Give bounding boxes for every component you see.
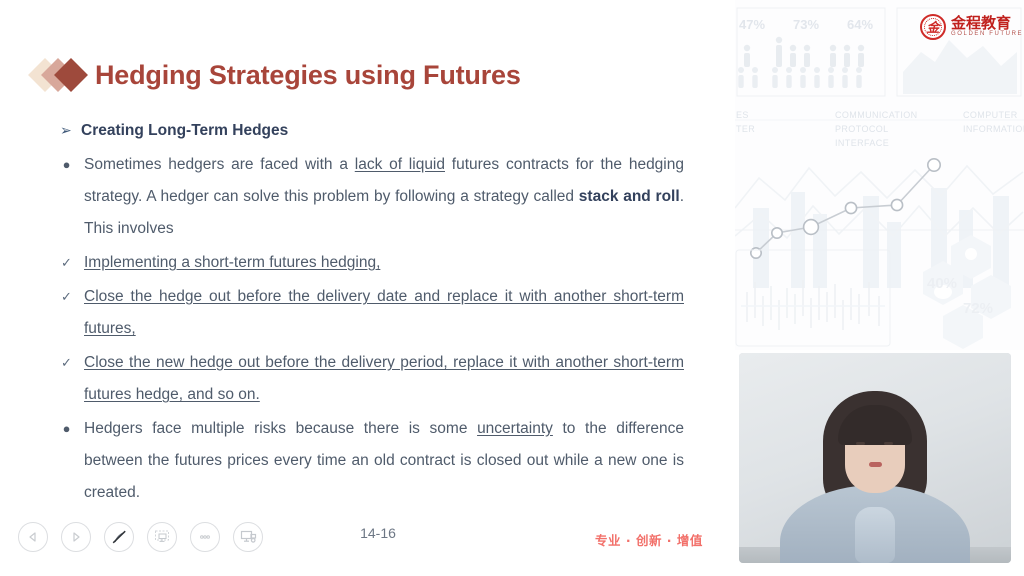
bullet-text-run: lack of liquid (355, 156, 445, 173)
bullet-text-run: Close the hedge out before the delivery … (84, 288, 684, 337)
section-heading: ➢ Creating Long-Term Hedges (60, 120, 705, 141)
seal-glyph: 金 (926, 21, 939, 34)
graphic-word-0: ES (736, 110, 749, 120)
bullet-text: Hedgers face multiple risks because ther… (84, 413, 684, 509)
section-heading-label: Creating Long-Term Hedges (81, 120, 288, 141)
bullet-item: ✓Close the hedge out before the delivery… (60, 281, 705, 345)
bullet-item: ✓Implementing a short-term futures hedgi… (60, 247, 705, 279)
next-slide-button[interactable] (61, 522, 91, 552)
slide-title-row: Hedging Strategies using Futures (33, 58, 521, 92)
bullet-text-run: uncertainty (477, 420, 553, 437)
more-options-button[interactable] (190, 522, 220, 552)
presentation-slide: 47% 73% 64% ES TER COMMUNICATION PROTOCO… (0, 0, 1024, 576)
presenter-mouth (869, 462, 882, 467)
graphic-word-4: INTERFACE (835, 138, 889, 148)
presenter-collar (855, 507, 895, 563)
graphic-word-2: COMMUNICATION (835, 110, 918, 120)
bullet-text-run: Sometimes hedgers are faced with a (84, 156, 355, 173)
brand-tagline: 专业 · 创新 · 增值 (595, 530, 703, 549)
bullet-item: ●Sometimes hedgers are faced with a lack… (60, 149, 705, 245)
decorative-infographic-panel: 47% 73% 64% ES TER COMMUNICATION PROTOCO… (735, 0, 1024, 350)
graphic-word-5: COMPUTER (963, 110, 1018, 120)
graphic-word-6: INFORMATION (963, 124, 1024, 134)
logo-name-en: GOLDEN FUTURE (951, 31, 1023, 38)
previous-slide-button[interactable] (18, 522, 48, 552)
bullet-text: Implementing a short-term futures hedgin… (84, 247, 684, 279)
graphic-word-3: PROTOCOL (835, 124, 889, 134)
bullet-text-run: Close the new hedge out before the deliv… (84, 354, 684, 403)
check-bullet-icon: ✓ (60, 247, 73, 279)
presenter-eye-right (884, 442, 893, 445)
presenter-video-feed[interactable] (739, 353, 1011, 563)
bullet-text: Sometimes hedgers are faced with a lack … (84, 149, 684, 245)
logo-name-cn: 金程教育 (951, 16, 1023, 32)
bullet-text-run: Implementing a short-term futures hedgin… (84, 254, 380, 271)
presenter-eye-left (856, 442, 865, 445)
seal-icon: 金 (920, 14, 946, 40)
graphic-percent-1: 73% (793, 17, 819, 32)
pen-tool-button[interactable] (104, 522, 134, 552)
slide-navigator-button[interactable] (147, 522, 177, 552)
bullet-item: ●Hedgers face multiple risks because the… (60, 413, 705, 509)
arrow-bullet-icon: ➢ (60, 120, 72, 141)
bullet-text: Close the new hedge out before the deliv… (84, 347, 684, 411)
bullet-item: ✓Close the new hedge out before the deli… (60, 347, 705, 411)
graphic-word-1: TER (736, 124, 755, 134)
graphic-percent-0: 47% (739, 17, 765, 32)
slide-body: ➢ Creating Long-Term Hedges ●Sometimes h… (60, 120, 705, 511)
check-bullet-icon: ✓ (60, 347, 73, 379)
page-indicator: 14-16 (352, 525, 404, 541)
graphic-hex-percent-0: 40% (927, 275, 957, 292)
bullet-text: Close the hedge out before the delivery … (84, 281, 684, 345)
graphic-percent-2: 64% (847, 17, 873, 32)
bullet-list: ●Sometimes hedgers are faced with a lack… (60, 149, 705, 509)
infographic-vector-art (735, 0, 1024, 350)
brand-logo: 金 金程教育 GOLDEN FUTURE (920, 14, 1023, 40)
bullet-text-run: Hedgers face multiple risks because ther… (84, 420, 477, 437)
logo-text: 金程教育 GOLDEN FUTURE (951, 16, 1023, 39)
page-title: Hedging Strategies using Futures (95, 60, 521, 91)
bullet-text-run: stack and roll (579, 188, 680, 205)
graphic-hex-percent-1: 72% (963, 300, 993, 317)
presenter-view-button[interactable] (233, 522, 263, 552)
slideshow-toolbar[interactable] (18, 522, 263, 552)
dot-bullet-icon: ● (60, 149, 73, 181)
dot-bullet-icon: ● (60, 413, 73, 445)
check-bullet-icon: ✓ (60, 281, 73, 313)
diamond-ornament-icon (33, 58, 95, 92)
